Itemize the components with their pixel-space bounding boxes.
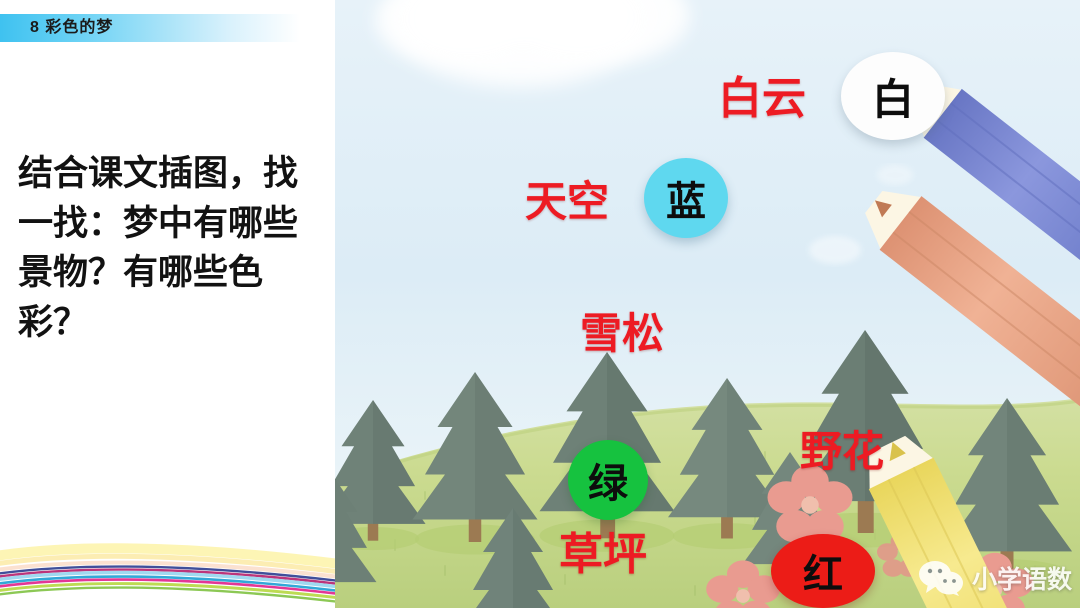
label-xuesong: 雪松 <box>580 300 664 361</box>
slide-canvas: 8 彩色的梦 结合课文插图，找一找：梦中有哪些景物？有哪些色彩？ <box>0 0 1080 608</box>
scene-artwork <box>335 0 1080 608</box>
watermark-text: 小学语数 <box>972 560 1072 596</box>
label-yehua: 野花 <box>800 418 884 479</box>
wechat-watermark: 小学语数 <box>918 560 1072 596</box>
lesson-title-label: 8 彩色的梦 <box>30 16 300 40</box>
color-chip-lv: 绿 <box>568 440 648 520</box>
question-prompt-text: 结合课文插图，找一找：梦中有哪些景物？有哪些色彩？ <box>18 150 328 349</box>
label-caoping: 草坪 <box>559 518 647 582</box>
color-chip-lan: 蓝 <box>644 158 728 238</box>
color-chip-bai: 白 <box>841 52 945 140</box>
decorative-ribbons <box>0 498 335 608</box>
left-text-panel: 8 彩色的梦 结合课文插图，找一找：梦中有哪些景物？有哪些色彩？ <box>0 0 335 608</box>
label-baiyun: 白云 <box>718 62 806 126</box>
label-tiankong: 天空 <box>525 168 609 229</box>
wechat-icon <box>918 560 964 596</box>
textbook-illustration-panel: 白云 天空 雪松 野花 草坪 白 蓝 绿 红 <box>335 0 1080 608</box>
color-chip-hong: 红 <box>771 534 875 608</box>
